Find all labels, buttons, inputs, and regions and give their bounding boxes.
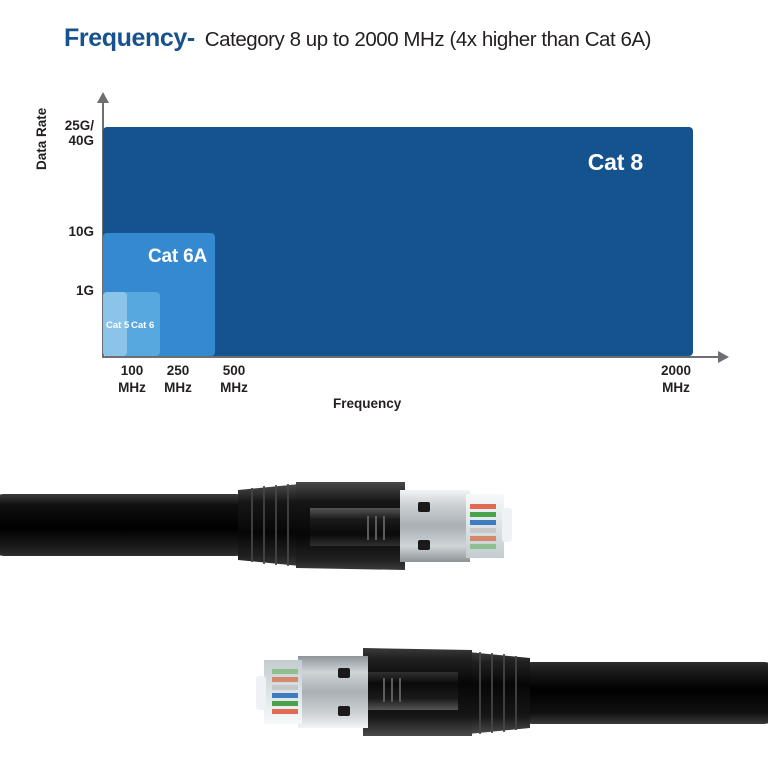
shield-dimple-lower-bottom [338,668,350,678]
x-tick-500mhz: 500 MHz [204,362,264,396]
x-axis-line [102,356,719,358]
shield-dimple-upper-top [418,502,430,512]
frequency-data-rate-chart: Cat 8 Cat 6A Cat 6 Cat 5 25G/ 40G 10G 1G… [0,0,768,440]
y-tick-25g-40g: 25G/ 40G [65,118,94,148]
shield-dimple-lower-top [418,540,430,550]
strain-relief-boot-top [238,484,300,566]
x-tick-2000mhz: 2000 MHz [646,362,706,396]
cable-jacket-top [0,494,250,556]
y-axis-tick-labels: 25G/ 40G 10G 1G [20,100,94,370]
cable-illustration [0,450,768,768]
shield-dimple-upper-bottom [338,706,350,716]
x-axis-arrowhead-icon [718,351,729,363]
y-tick-1g: 1G [76,283,94,298]
y-axis-arrowhead-icon [97,92,109,103]
metal-shield-top [400,490,470,562]
cable-jacket-bottom [518,662,768,724]
plug-clip-top [502,508,512,542]
y-axis-title: Data Rate [34,108,49,170]
y-tick-10g: 10G [68,224,94,239]
region-cat5: Cat 5 [103,292,127,356]
ethernet-cable-photo [0,450,768,768]
region-label-cat6a: Cat 6A [148,246,207,268]
latch-tab-top [310,508,402,546]
chart-plot-area: Cat 8 Cat 6A Cat 6 Cat 5 [103,127,693,356]
latch-tab-bottom [366,672,458,710]
region-label-cat8: Cat 8 [588,149,643,176]
region-label-cat5: Cat 5 [106,320,129,331]
strain-relief-boot-bottom [468,652,530,734]
region-label-cat6: Cat 6 [131,320,154,331]
x-axis-title: Frequency [333,396,401,411]
cable-top [0,482,512,570]
cable-bottom [256,648,768,736]
metal-shield-bottom [298,656,368,728]
x-tick-250mhz: 250 MHz [148,362,208,396]
plug-clip-bottom [256,676,266,710]
